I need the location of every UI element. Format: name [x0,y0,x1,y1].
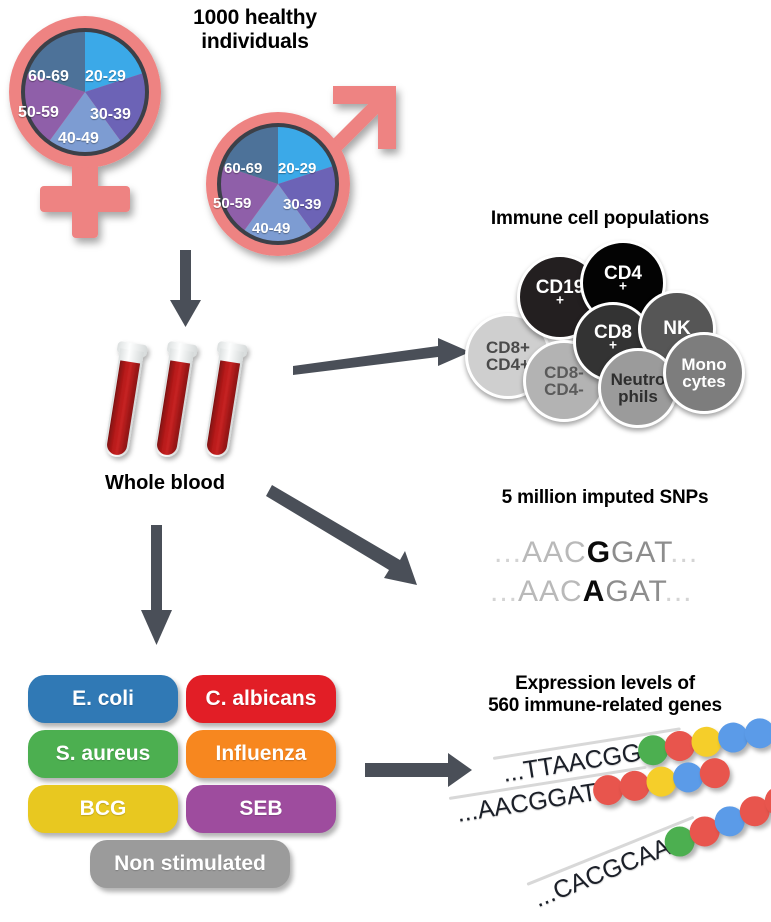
snp2-variant: A [583,575,606,608]
immune-cell-cluster: CD8+ CD4+ CD19+ CD8- CD4- CD4+ CD8+ NK N… [455,240,755,420]
snp2-right: GAT [605,575,664,608]
stimulus-influenza[interactable]: Influenza [186,730,336,778]
blood-tubes-icon [95,335,275,470]
stimulus-non-stimulated[interactable]: Non stimulated [90,840,290,888]
arrow-blood-to-immune [293,338,470,375]
snp1-right: GAT [611,536,670,569]
stimulus-label-seb: SEB [239,797,282,821]
stimuli-panel: E. coli C. albicans S. aureus Influenza … [28,675,348,895]
section-title-snp: 5 million imputed SNPs [455,487,755,509]
stimulus-seb[interactable]: SEB [186,785,336,833]
snp2-prefix: ... [490,575,518,608]
cell-label-neutrophils-line1: Neutro [611,371,666,388]
cell-monocytes: Mono cytes [663,332,745,414]
stimulus-label-e-coli: E. coli [72,687,134,711]
snp1-prefix: ... [494,536,522,569]
snp2-suffix: ... [665,575,693,608]
expression-title-line2: 560 immune-related genes [440,695,770,717]
stimulus-c-albicans[interactable]: C. albicans [186,675,336,723]
stimulus-s-aureus[interactable]: S. aureus [28,730,178,778]
rna-bead [698,756,732,790]
stimulus-bcg[interactable]: BCG [28,785,178,833]
cell-label-monocytes-line2: cytes [681,373,726,390]
stimulus-e-coli[interactable]: E. coli [28,675,178,723]
snp-sequence-row-1: ...AACGGAT... [494,536,698,570]
arrow-blood-to-snp [266,485,417,585]
cell-label-cd19: CD19+ [536,278,585,317]
whole-blood-label: Whole blood [60,472,270,495]
stimulus-label-c-albicans: C. albicans [206,687,317,711]
stimulus-label-s-aureus: S. aureus [56,742,151,766]
section-title-expression: Expression levels of 560 immune-related … [440,673,770,717]
snp-sequence-row-2: ...AACAGAT... [490,575,693,609]
cell-label-neutrophils-line2: phils [611,388,666,405]
stimulus-label-influenza: Influenza [215,742,306,766]
snp1-suffix: ... [670,536,698,569]
snp2-left: AAC [518,575,583,608]
cell-label-cd4: CD4+ [604,264,642,303]
rna-strands-group: ...TTAACGG ...AACGGAT ...CACGCAA [455,735,771,920]
rna-bead [742,716,771,750]
expression-title-line1: Expression levels of [440,673,770,695]
diagram-canvas: 20-29 30-39 40-49 50-59 60-69 20- [0,0,771,922]
arrow-cohort-to-blood [170,250,201,327]
snp1-variant: G [587,536,611,569]
cell-label-monocytes-line1: Mono [681,356,726,373]
cell-label-cd8p-cd4p-line1: CD8+ [486,339,530,356]
cell-label-cd8-neg-line2: CD4- [544,381,584,398]
stimulus-label-non-stimulated: Non stimulated [114,852,266,876]
snp1-left: AAC [522,536,587,569]
section-title-immune: Immune cell populations [440,208,760,230]
cell-label-cd8-neg-line1: CD8- [544,364,584,381]
arrow-blood-to-stimuli [141,525,172,645]
stimulus-label-bcg: BCG [80,797,127,821]
